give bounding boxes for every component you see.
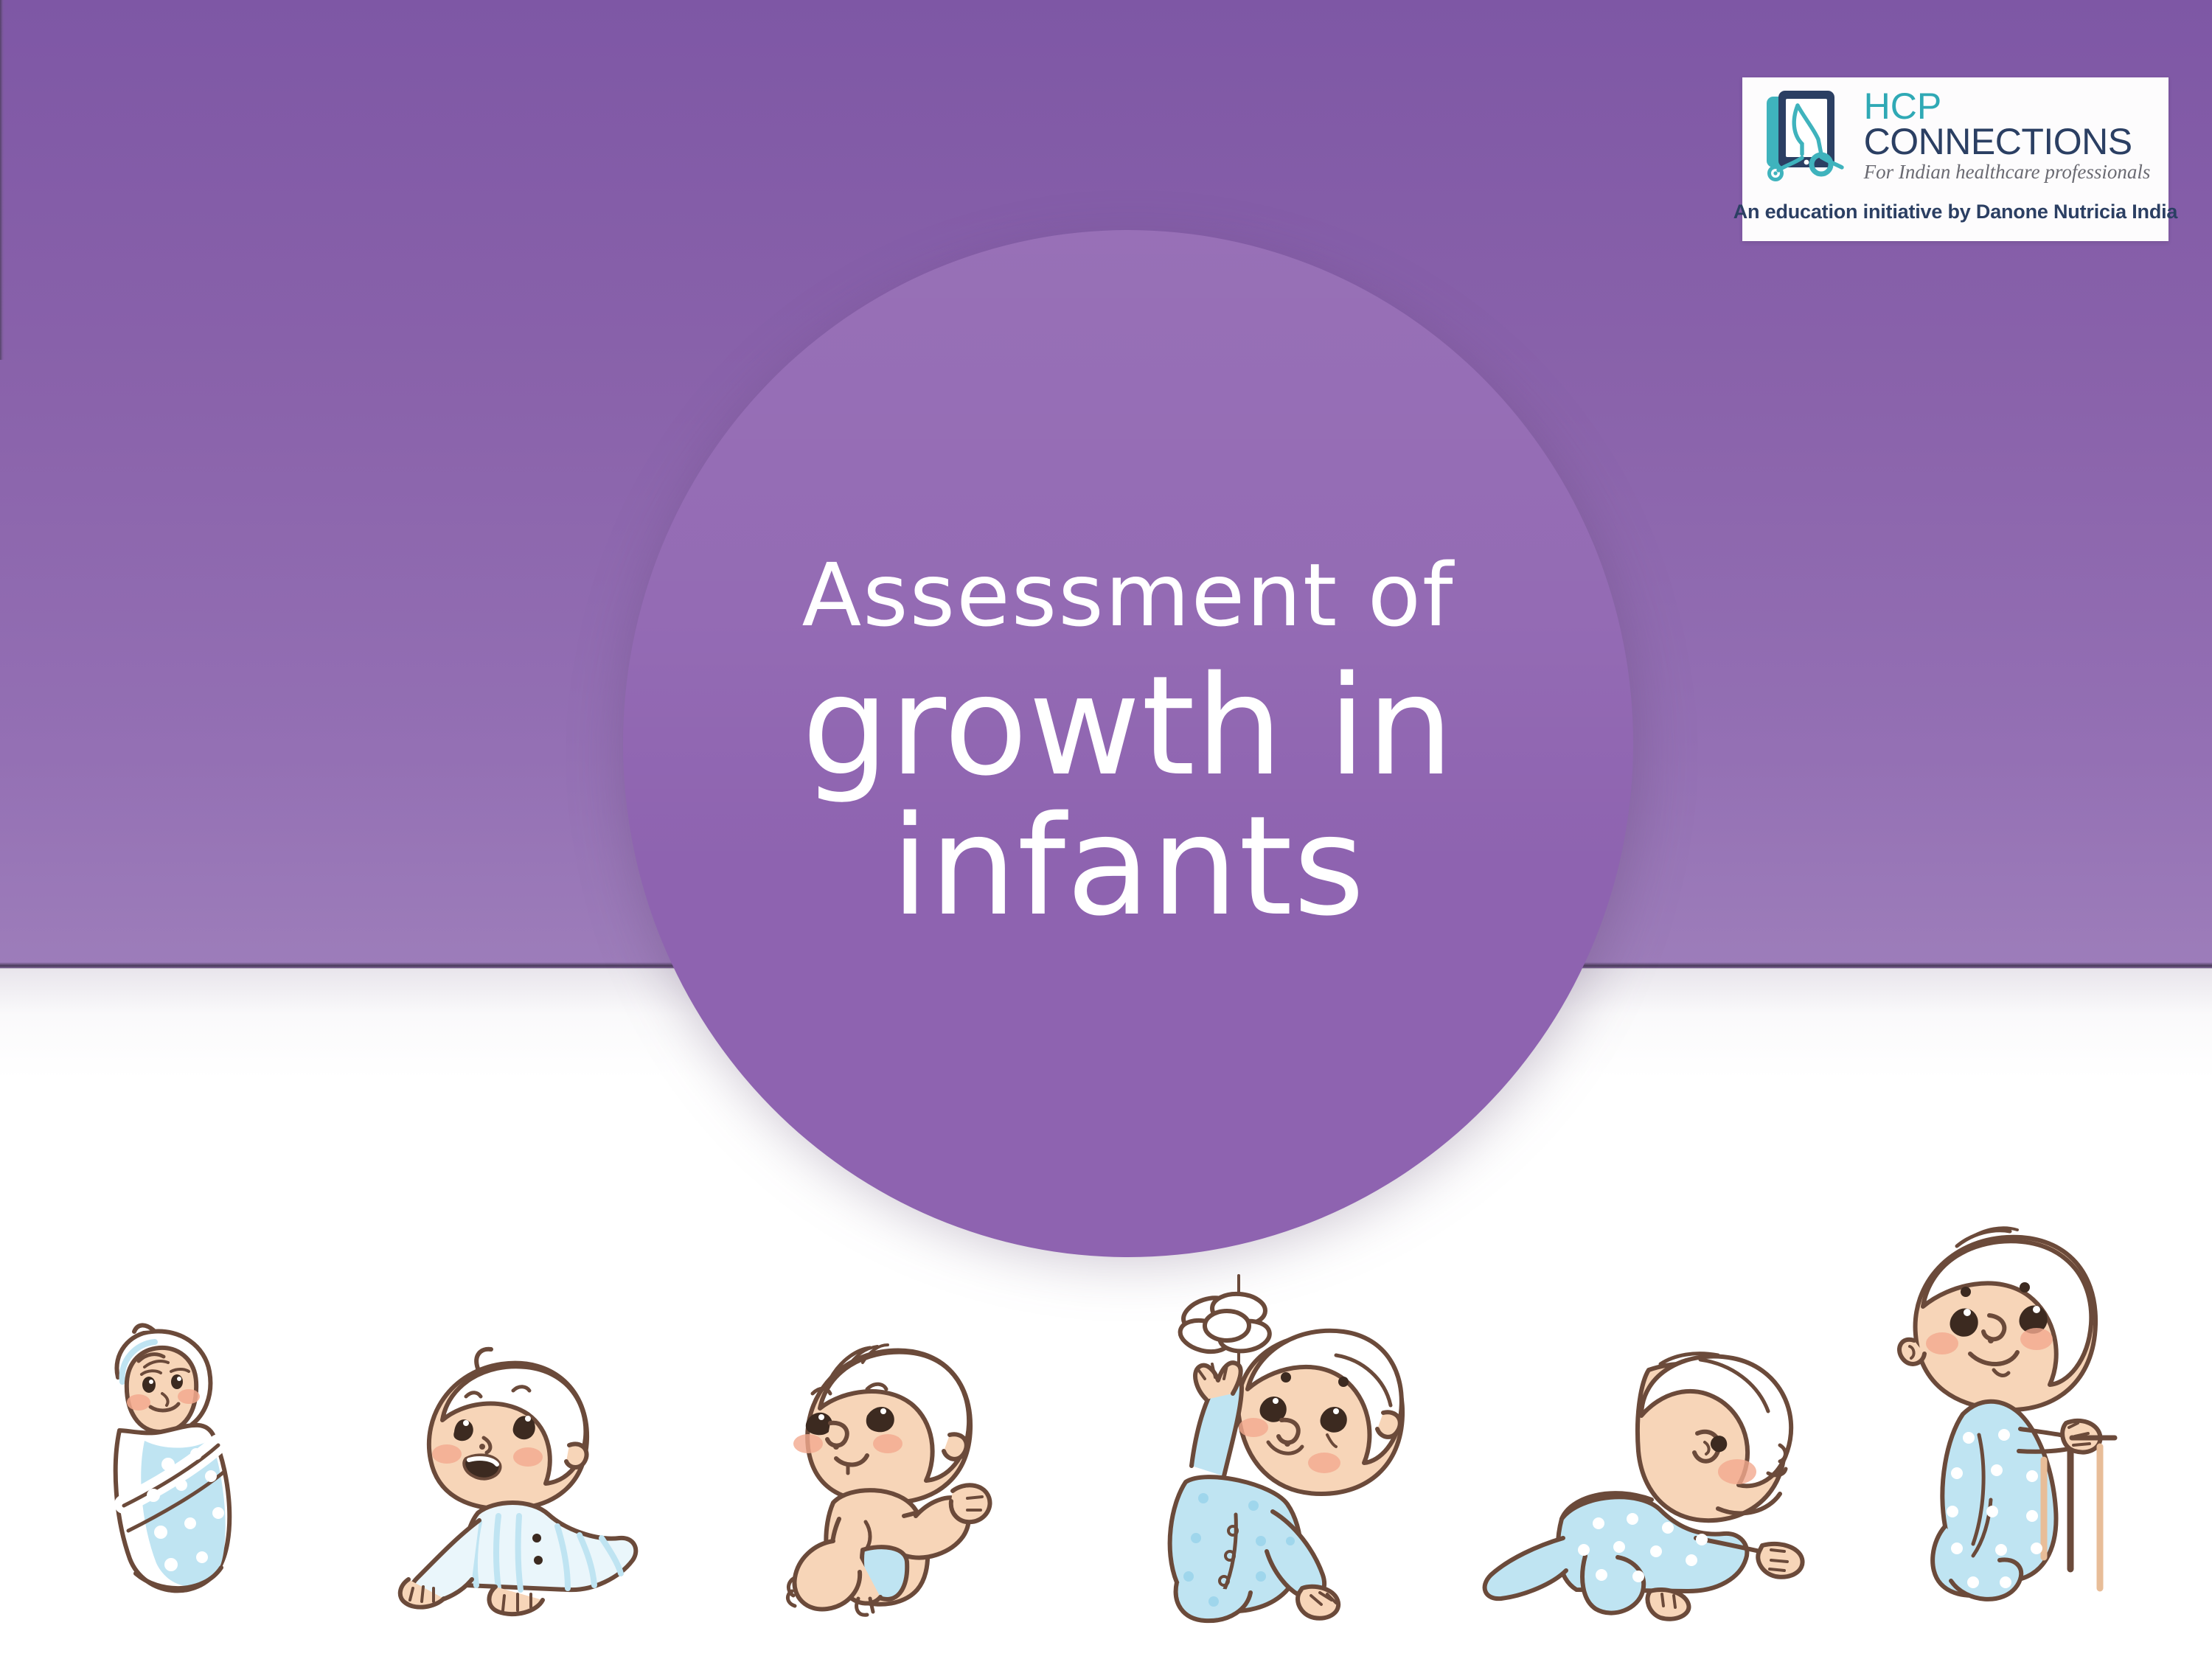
- title-circle: [623, 230, 1633, 1257]
- band-left-edge-accent: [0, 0, 4, 360]
- infant-development-stages: [0, 1194, 2212, 1637]
- hcp-connections-logo-box[interactable]: HCP CONNECTIONS For Indian healthcare pr…: [1742, 77, 2168, 241]
- logo-main-row: HCP CONNECTIONS For Indian healthcare pr…: [1761, 86, 2151, 191]
- logo-brand-secondary: CONNECTIONS: [1864, 123, 2132, 160]
- presentation-slide: Assessment of growth in infants: [0, 0, 2212, 1659]
- tummy-time-baby: [383, 1342, 678, 1637]
- logo-initiative-line: An education initiative by Danone Nutric…: [1733, 201, 2178, 223]
- logo-brand-primary: HCP: [1864, 89, 1942, 123]
- crawling-baby: [1475, 1335, 1843, 1630]
- logo-wordmark: HCP CONNECTIONS For Indian healthcare pr…: [1864, 86, 2151, 183]
- standing-baby-holding-rail: [1880, 1217, 2205, 1637]
- kneeling-baby-reaching-flower: [1150, 1268, 1475, 1637]
- sitting-baby-holding-foot: [782, 1335, 1077, 1637]
- tablet-stethoscope-icon: [1765, 86, 1854, 191]
- logo-tagline: For Indian healthcare professionals: [1864, 161, 2151, 183]
- swaddled-newborn-baby: [74, 1320, 295, 1630]
